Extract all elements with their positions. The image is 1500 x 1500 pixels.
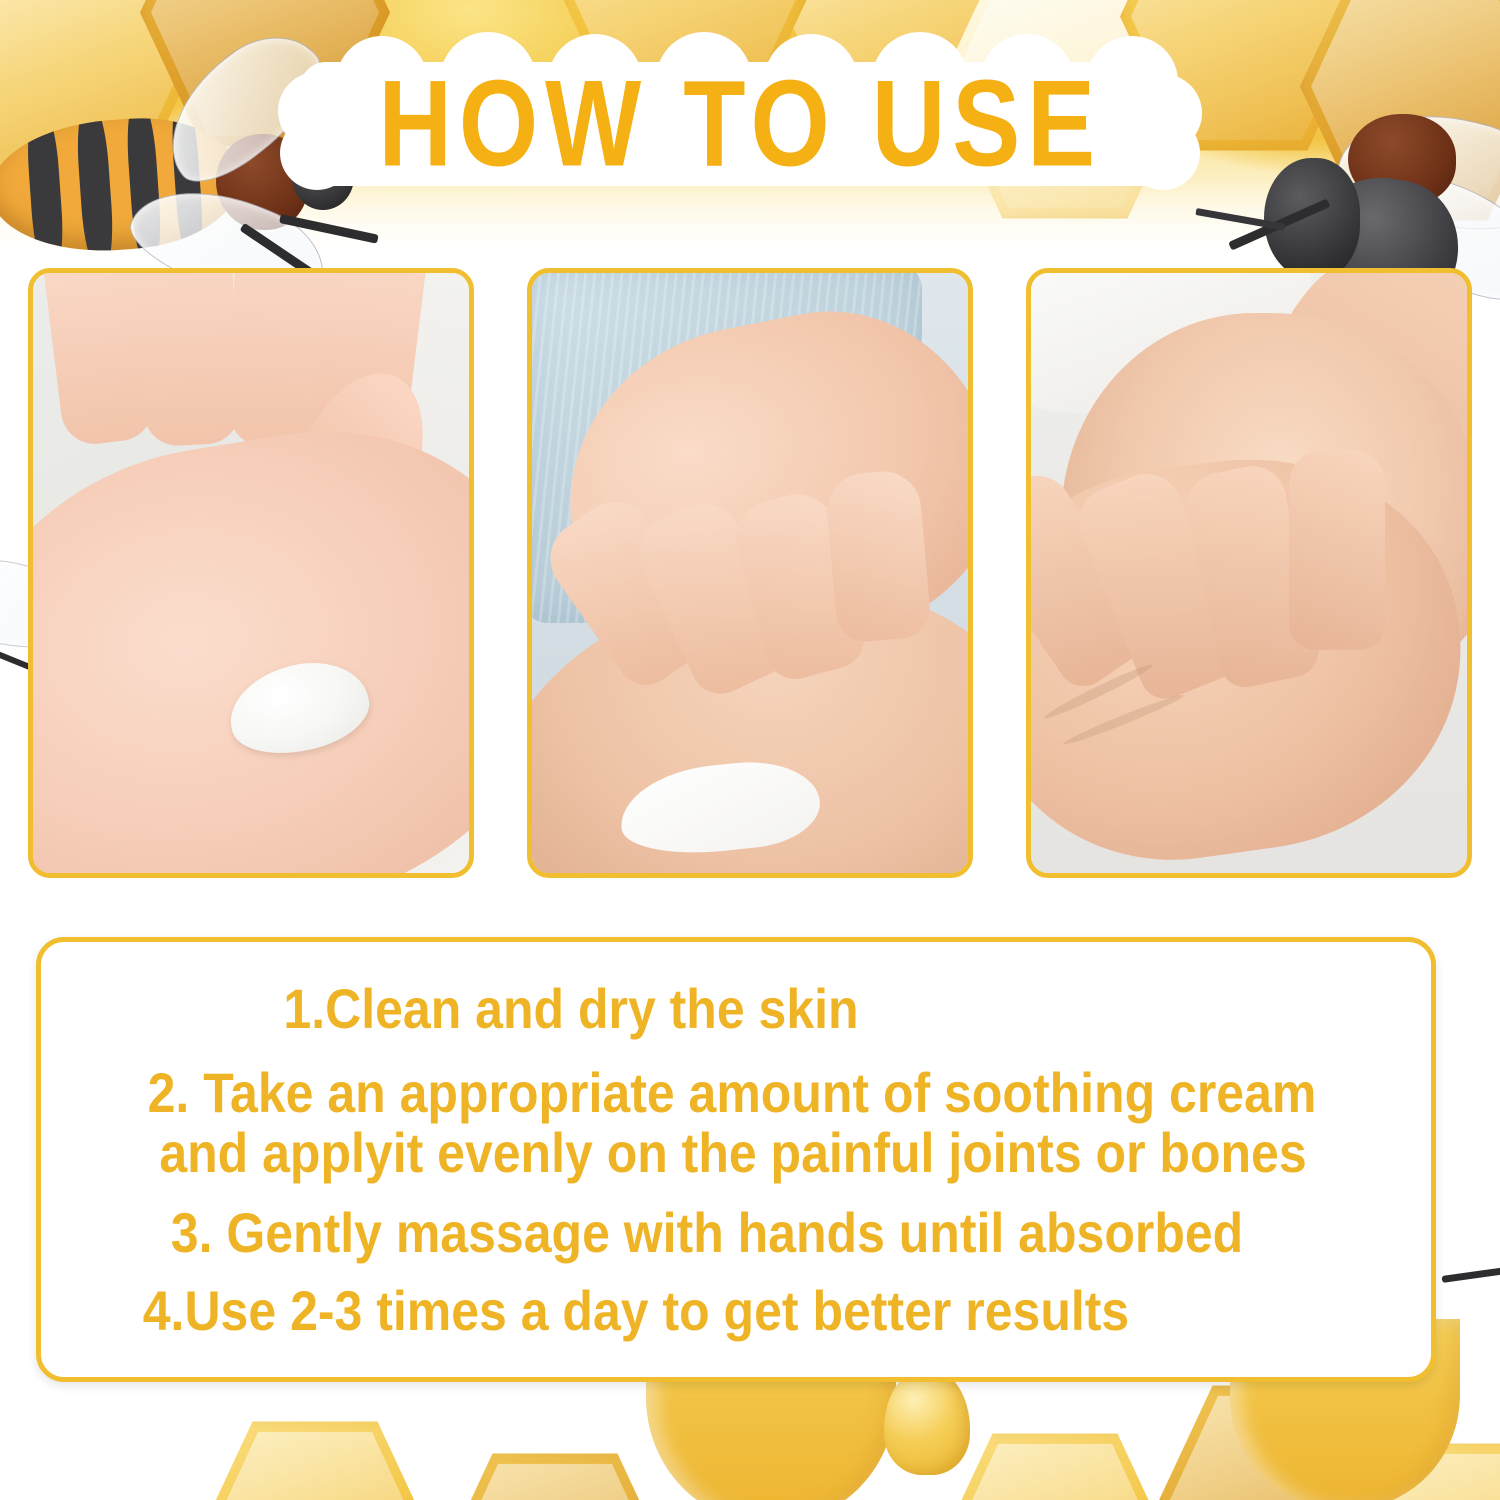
bee-abdomen-icon — [0, 111, 244, 258]
photo-card-massage-knee[interactable] — [1026, 268, 1472, 878]
honeycomb-hex — [1150, 1377, 1400, 1500]
bee-leg-icon — [279, 214, 379, 244]
photo-card-palm-cream[interactable] — [28, 268, 474, 878]
photo-apply-knee — [532, 273, 968, 873]
honeycomb-hex — [190, 1413, 440, 1500]
photo-massage-knee — [1031, 273, 1467, 873]
instruction-step: 3. Gently massage with hands until absor… — [171, 1205, 1243, 1261]
honeycomb-hex — [1300, 0, 1500, 229]
bee-leg-icon — [1228, 198, 1330, 250]
photo-card-apply-knee[interactable] — [527, 268, 973, 878]
instruction-step: 1.Clean and dry the skin — [283, 981, 858, 1037]
instruction-step: and applyit evenly on the painful joints… — [159, 1125, 1306, 1181]
bee-thorax-icon — [1348, 114, 1456, 206]
photo-palm-cream — [33, 273, 469, 873]
bee-antenna-icon — [1195, 208, 1285, 231]
honey-droplet — [884, 1367, 970, 1475]
photo-card-row — [28, 268, 1472, 878]
page-title-badge: HOW TO USE — [300, 62, 1180, 186]
bee-leg-icon — [1442, 1264, 1500, 1283]
instruction-step: 4.Use 2-3 times a day to get better resu… — [143, 1283, 1129, 1339]
honeycomb-hex — [0, 0, 190, 215]
honeycomb-hex — [430, 1445, 680, 1500]
bee-head-icon — [1264, 158, 1360, 280]
page-title: HOW TO USE — [378, 63, 1102, 186]
instruction-step: 2. Take an appropriate amount of soothin… — [148, 1065, 1317, 1121]
infographic-page: HOW TO USE — [0, 0, 1500, 1500]
honey-droplet — [1192, 1421, 1256, 1500]
honeycomb-hex — [1340, 1435, 1500, 1500]
honeycomb-hex — [930, 1425, 1180, 1500]
instructions-panel: 1.Clean and dry the skin 2. Take an appr… — [36, 937, 1436, 1382]
bee-wing-icon — [1330, 92, 1500, 250]
